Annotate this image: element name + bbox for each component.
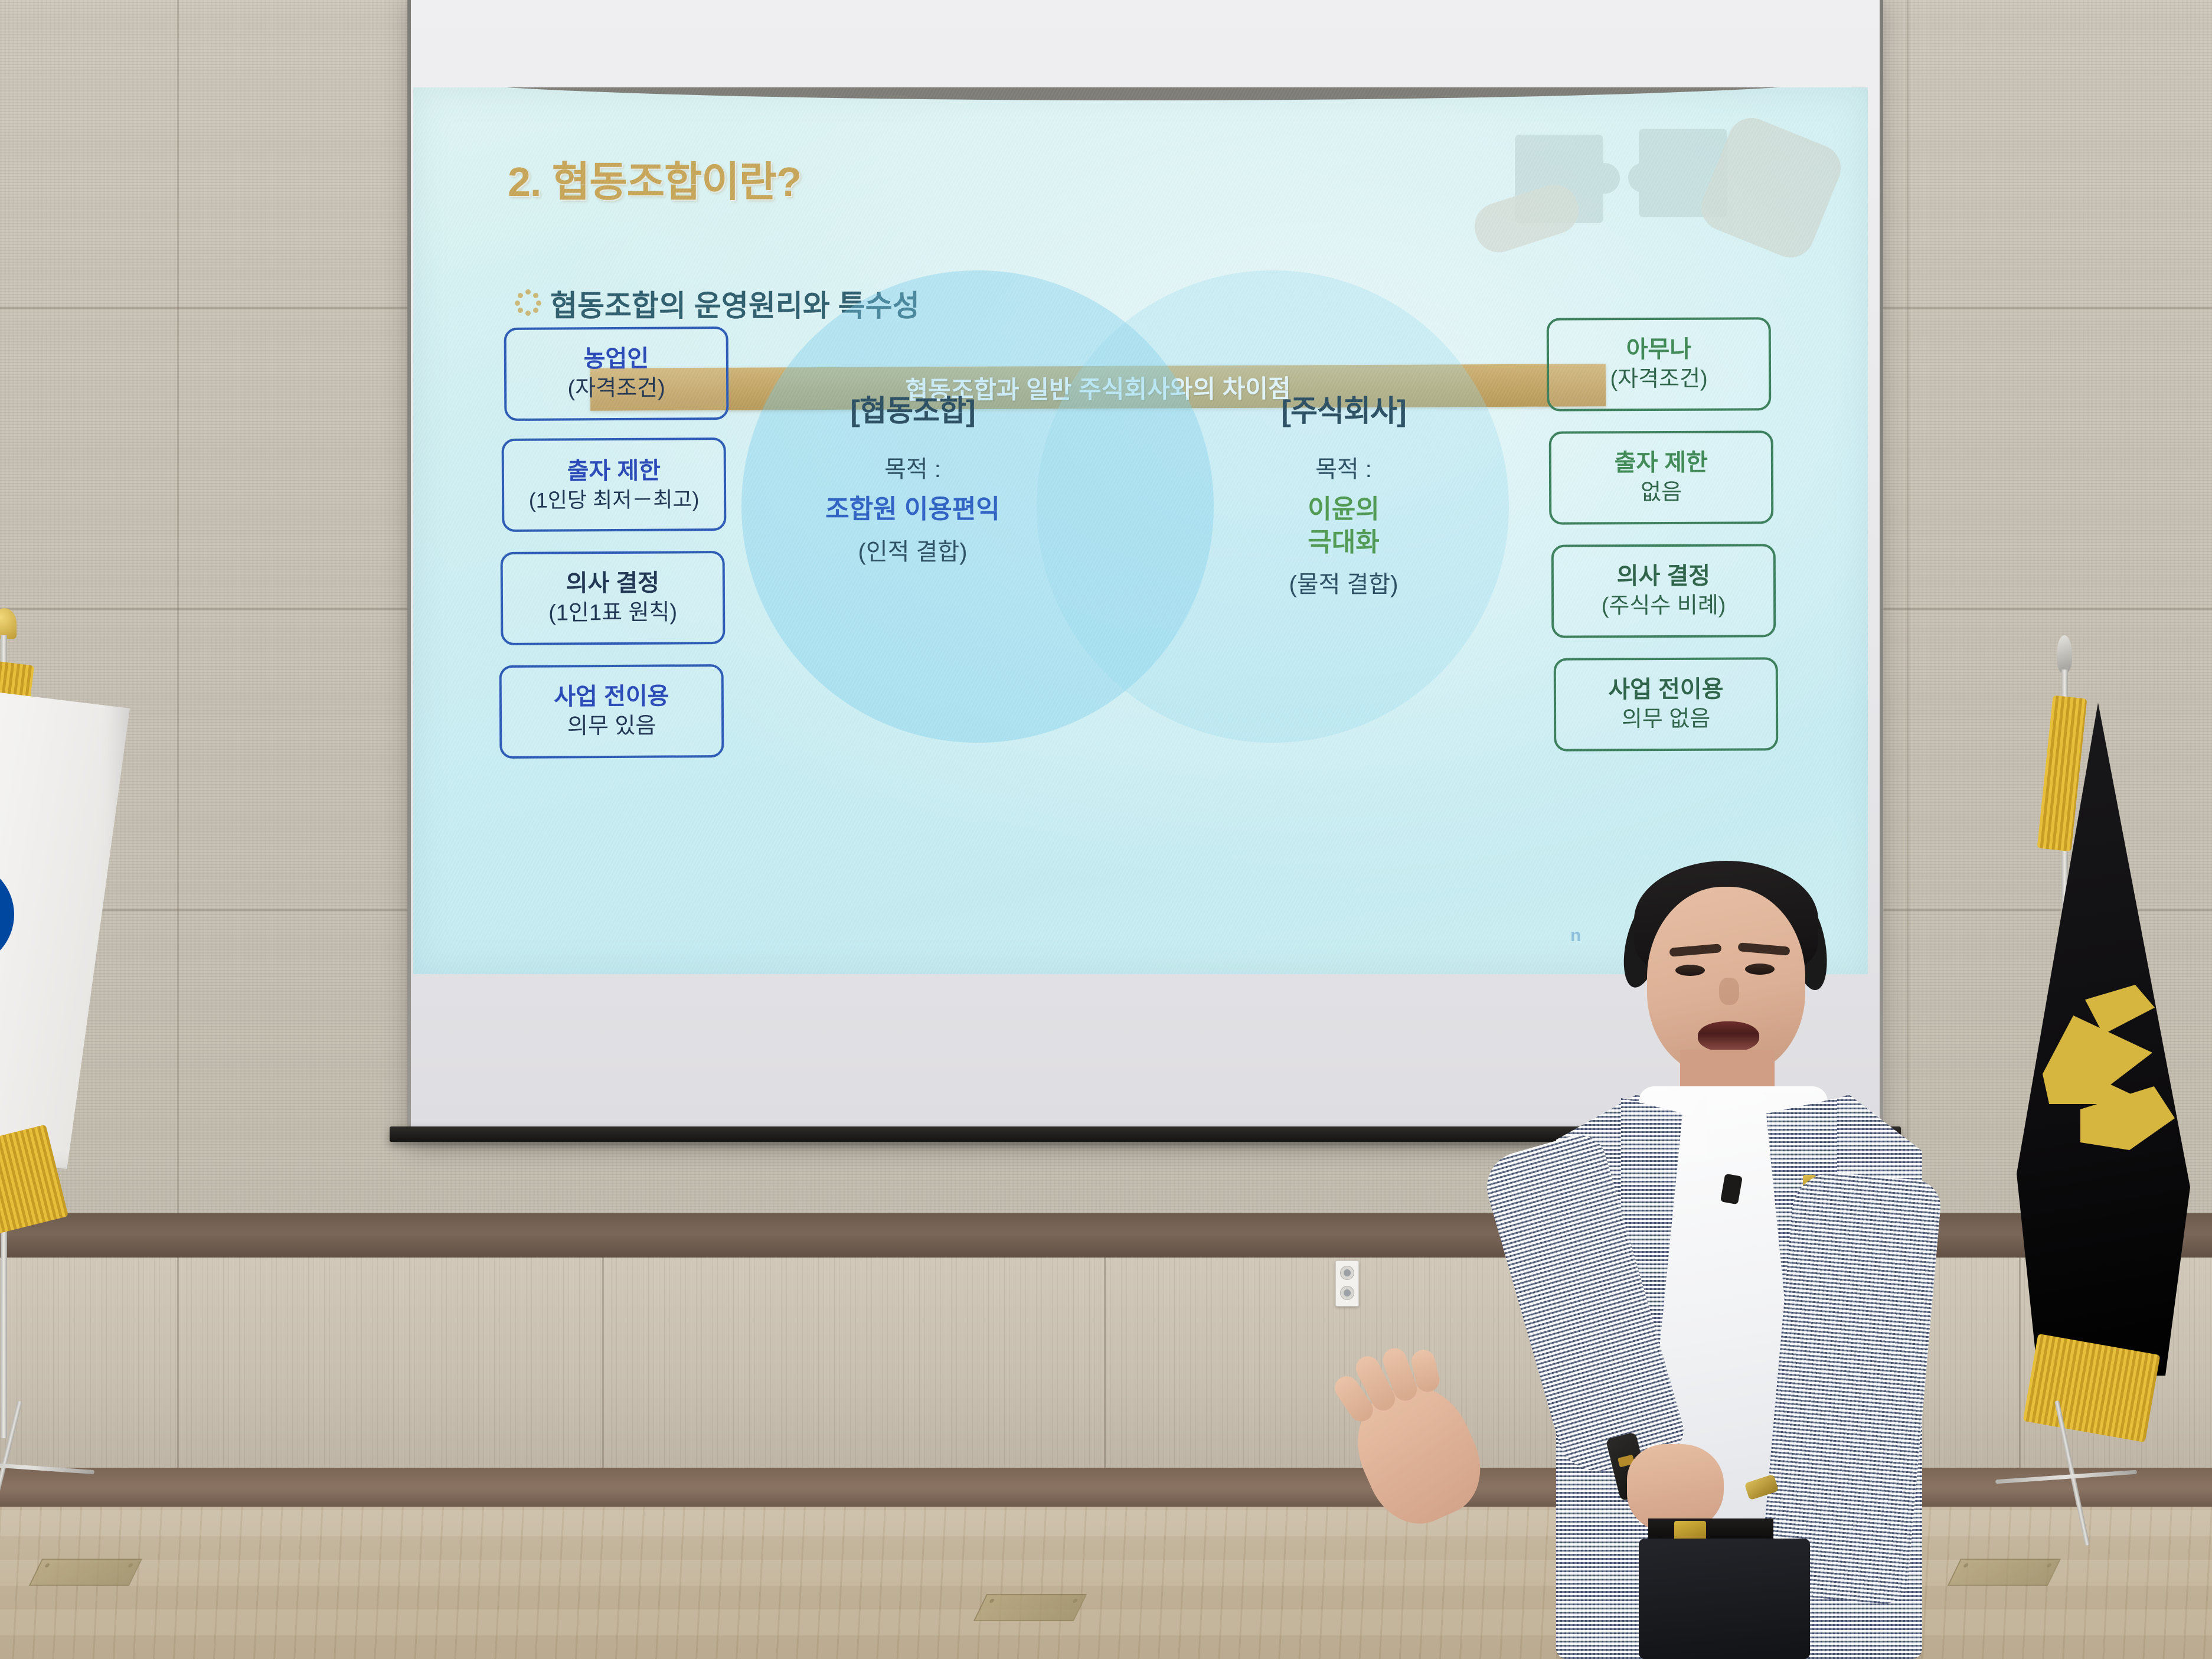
venn-text-coop: [협동조합] 목적 : 조합원 이용편익 (인적 결합) (777, 387, 1048, 567)
presentation-room-photo: 2. 협동조합이란? 협동조합의 운영원리와 특수성 협동조합과 일반 주식회사… (0, 0, 2212, 1659)
coop-box-title: 의사 결정 (566, 568, 660, 599)
corp-attribute-box: 아무나 (자격조건) (1547, 317, 1772, 411)
coop-box-title: 사업 전이용 (554, 681, 669, 713)
black-gold-emblem-flag (2019, 638, 2212, 1523)
coop-attribute-box: 출자 제한 (1인당 최저－최고) (502, 437, 727, 532)
venn-heading-coop: [협동조합] (777, 387, 1048, 430)
coop-attribute-box: 의사 결정 (1인1표 원칙) (501, 551, 726, 645)
coop-attribute-box: 사업 전이용 의무 있음 (499, 664, 724, 759)
venn-purpose-label-corp: 목적 : (1208, 450, 1479, 484)
corp-box-detail: (자격조건) (1610, 365, 1707, 394)
coop-box-detail: (자격조건) (567, 374, 665, 404)
corp-attribute-box: 의사 결정 (주식수 비례) (1551, 544, 1776, 638)
coop-box-title: 농업인 (584, 344, 649, 375)
south-korea-flag (0, 608, 201, 1553)
venn-purpose-label-coop: 목적 : (777, 450, 1048, 484)
venn-text-corp: [주식회사] 목적 : 이윤의 극대화 (물적 결합) (1208, 387, 1479, 599)
belt-buckle-icon (1674, 1521, 1706, 1541)
coop-box-title: 출자 제한 (567, 455, 661, 486)
slide-title: 2. 협동조합이란? (508, 149, 801, 208)
presenter-mouth (1698, 1021, 1759, 1052)
venn-keypoint-coop: 조합원 이용편익 (777, 494, 1048, 525)
dotted-circle-icon (515, 289, 541, 315)
corp-box-title: 아무나 (1626, 334, 1692, 365)
corp-box-detail: 의무 없음 (1622, 705, 1711, 734)
corp-box-title: 의사 결정 (1617, 561, 1711, 592)
projected-slide: 2. 협동조합이란? 협동조합의 운영원리와 특수성 협동조합과 일반 주식회사… (413, 87, 1868, 974)
venn-keypoint-corp-line2: 극대화 (1208, 527, 1479, 559)
flag-emblem-icon (2043, 985, 2161, 1150)
corp-box-title: 출자 제한 (1615, 448, 1708, 479)
coop-attribute-box: 농업인 (자격조건) (504, 326, 729, 421)
presenter-trousers (1639, 1539, 1810, 1659)
corp-attribute-box: 출자 제한 없음 (1549, 430, 1774, 524)
corp-attribute-box: 사업 전이용 의무 없음 (1554, 657, 1779, 751)
venn-footnote-coop: (인적 결합) (777, 533, 1048, 567)
presenter (1499, 844, 1948, 1659)
power-outlet-icon[interactable] (1335, 1260, 1359, 1307)
corp-box-title: 사업 전이용 (1608, 674, 1723, 706)
coop-box-detail: 의무 있음 (567, 712, 656, 742)
corp-box-detail: 없음 (1641, 478, 1682, 508)
corp-box-detail: (주식수 비례) (1602, 592, 1726, 621)
venn-heading-corp: [주식회사] (1208, 387, 1479, 430)
venn-diagram: [협동조합] 목적 : 조합원 이용편익 (인적 결합) [주식회사] 목적 :… (741, 270, 1521, 861)
venn-footnote-corp: (물적 결합) (1208, 565, 1479, 599)
coop-box-detail: (1인1표 원칙) (548, 599, 677, 629)
venn-keypoint-corp-line1: 이윤의 (1208, 494, 1479, 525)
puzzle-pieces-icon (1473, 93, 1851, 253)
coop-box-detail: (1인당 최저－최고) (529, 486, 700, 514)
